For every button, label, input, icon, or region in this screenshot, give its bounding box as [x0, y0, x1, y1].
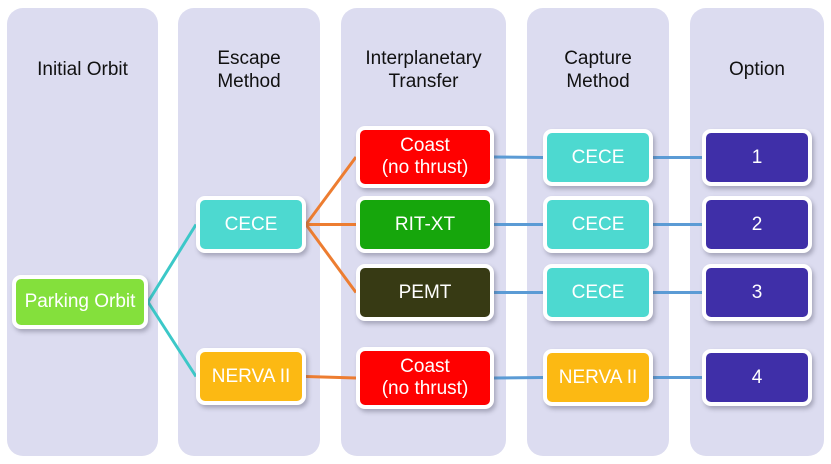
node-option-1[interactable]: 1 [702, 129, 812, 186]
node-capture-cece-3[interactable]: CECE [543, 264, 653, 321]
column-title-escape-method: Escape Method [178, 47, 320, 93]
node-capture-cece-2[interactable]: CECE [543, 196, 653, 253]
node-escape-cece[interactable]: CECE [196, 196, 306, 253]
node-option-2[interactable]: 2 [702, 196, 812, 253]
column-title-capture-method: Capture Method [527, 47, 669, 93]
node-capture-nerva[interactable]: NERVA II [543, 349, 653, 406]
node-transfer-coast-1[interactable]: Coast (no thrust) [356, 126, 494, 188]
node-transfer-pemt[interactable]: PEMT [356, 264, 494, 321]
column-title-initial-orbit: Initial Orbit [7, 58, 158, 81]
node-option-3[interactable]: 3 [702, 264, 812, 321]
node-transfer-coast-2[interactable]: Coast (no thrust) [356, 347, 494, 409]
node-parking-orbit[interactable]: Parking Orbit [12, 275, 148, 329]
column-title-interplanetary-transfer: Interplanetary Transfer [341, 47, 506, 93]
diagram-canvas: Initial OrbitEscape MethodInterplanetary… [0, 0, 831, 464]
node-escape-nerva[interactable]: NERVA II [196, 348, 306, 405]
node-capture-cece-1[interactable]: CECE [543, 129, 653, 186]
column-title-option: Option [690, 58, 824, 81]
node-transfer-ritxt[interactable]: RIT-XT [356, 196, 494, 253]
node-option-4[interactable]: 4 [702, 349, 812, 406]
